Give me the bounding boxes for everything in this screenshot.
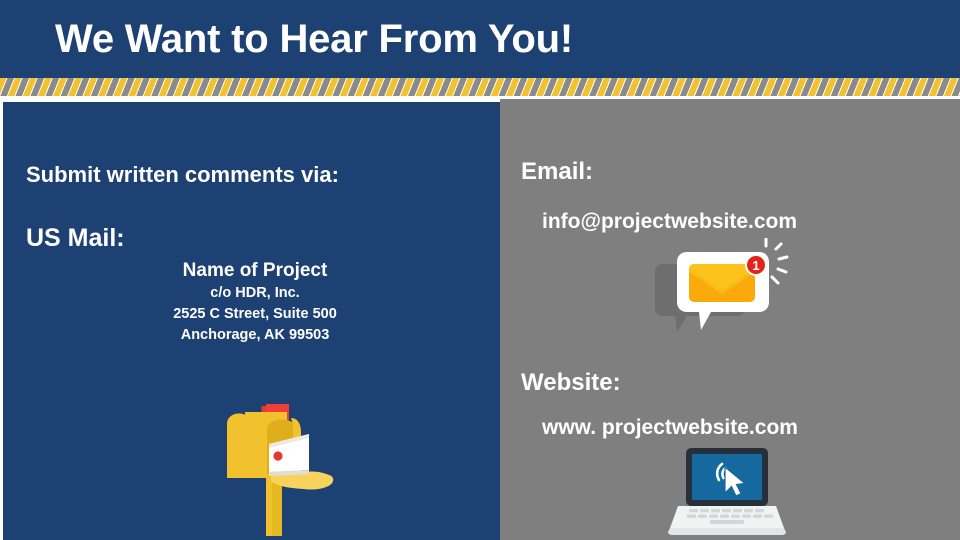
email-label: Email: [521,158,593,186]
slide-header: We Want to Hear From You! [0,0,960,78]
slide-canvas: We Want to Hear From You! Submit written… [0,0,960,540]
us-mail-label: US Mail: [26,224,125,253]
website-url-value[interactable]: www. projectwebsite.com [542,416,798,440]
mailbox-icon [205,388,350,538]
diagonal-stripe-band [0,78,960,96]
address-project-name: Name of Project [100,258,410,283]
address-line-3: Anchorage, AK 99503 [100,325,410,346]
address-line-2: 2525 C Street, Suite 500 [100,304,410,325]
submit-comments-label: Submit written comments via: [26,162,339,188]
mailing-address-block: Name of Project c/o HDR, Inc. 2525 C Str… [100,258,410,346]
laptop-click-icon [662,444,792,540]
website-label: Website: [521,369,621,397]
email-message-icon: 1 [645,238,795,343]
page-title: We Want to Hear From You! [55,14,573,64]
email-badge-count: 1 [752,258,759,273]
address-line-1: c/o HDR, Inc. [100,283,410,304]
email-address-value[interactable]: info@projectwebsite.com [542,210,797,234]
